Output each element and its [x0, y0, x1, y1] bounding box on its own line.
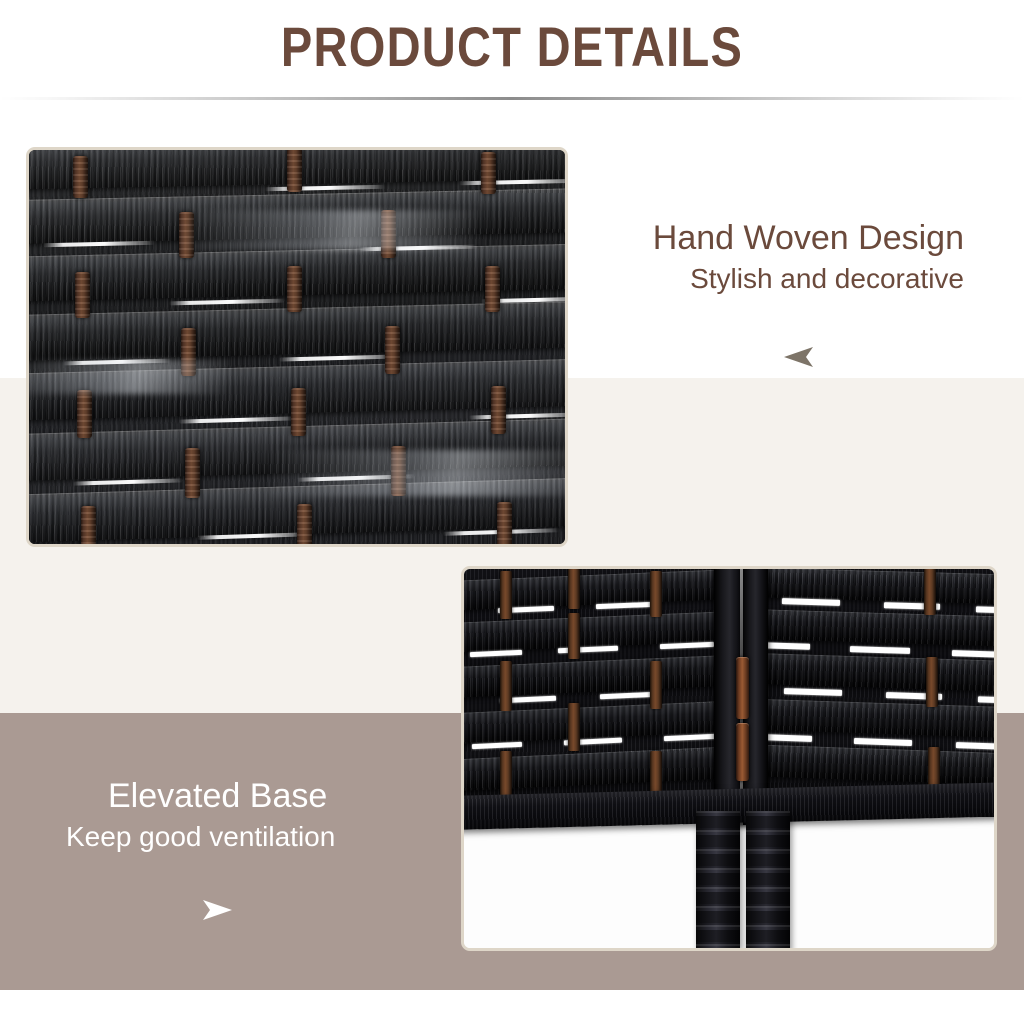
- dowel-post: [287, 266, 302, 312]
- elevated-base-texture: [464, 569, 994, 948]
- elevated-base-leg-right: [746, 811, 790, 948]
- dowel-post: [391, 446, 406, 496]
- dowel-post: [926, 657, 938, 707]
- dowel-post: [650, 571, 662, 617]
- dowel-post: [179, 212, 194, 258]
- page-title: PRODUCT DETAILS: [82, 16, 942, 78]
- dowel-post: [481, 152, 496, 194]
- dowel-post: [497, 502, 512, 544]
- dowel-post: [297, 504, 312, 544]
- arrow-left-icon: [782, 345, 816, 374]
- dowel-post: [77, 390, 92, 438]
- background-band-white-bottom: [0, 990, 1024, 1024]
- weave-closeup-texture: [29, 150, 565, 544]
- dowel-post: [287, 150, 302, 192]
- dowel-post: [500, 751, 512, 799]
- dowel-post: [485, 266, 500, 312]
- feature-subtitle-elevated-base: Keep good ventilation: [66, 820, 335, 854]
- hinge-hardware: [736, 657, 749, 719]
- dowel-post: [568, 703, 580, 751]
- dowel-post: [381, 210, 396, 258]
- arrow-right-icon: [200, 898, 234, 927]
- dowel-post: [491, 386, 506, 434]
- dowel-post: [75, 272, 90, 318]
- dowel-post: [385, 326, 400, 374]
- feature-subtitle-hand-woven-design: Stylish and decorative: [690, 262, 964, 296]
- elevated-base-leg-left: [696, 811, 740, 948]
- infographic-canvas: PRODUCT DETAILS: [0, 0, 1024, 1024]
- header-divider: [0, 97, 1024, 100]
- hinge-hardware: [736, 723, 749, 781]
- dowel-post: [185, 448, 200, 498]
- dowel-post: [568, 613, 580, 659]
- dowel-post: [500, 661, 512, 711]
- dowel-post: [924, 569, 936, 615]
- feature-title-hand-woven-design: Hand Woven Design: [653, 218, 964, 258]
- product-image-elevated-base: [461, 566, 997, 951]
- dowel-post: [500, 571, 512, 619]
- dowel-post: [568, 569, 580, 609]
- product-image-weave-closeup: [26, 147, 568, 547]
- dowel-post: [650, 661, 662, 709]
- dowel-post: [73, 156, 88, 198]
- dowel-post: [291, 388, 306, 436]
- dowel-post: [81, 506, 96, 544]
- feature-title-elevated-base: Elevated Base: [108, 776, 327, 816]
- dowel-post: [181, 328, 196, 376]
